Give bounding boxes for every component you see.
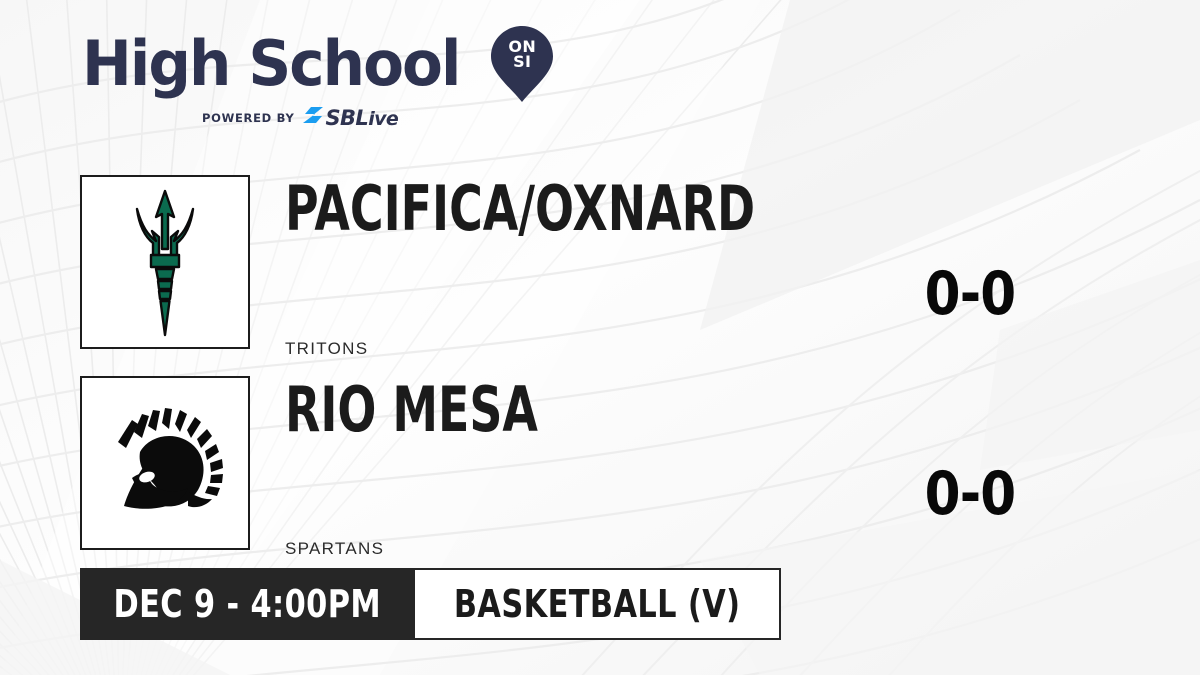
team-logo-box-pacifica-oxnard <box>80 175 250 349</box>
team-logo-box-rio-mesa <box>80 376 250 550</box>
spartan-helmet-icon <box>102 404 228 522</box>
onsi-pin-icon: ON SI <box>491 26 553 102</box>
trident-icon <box>126 187 204 337</box>
game-sport-cell: BASKETBALL (V) <box>415 568 781 640</box>
team-mascot-1: TRITONS <box>285 339 368 359</box>
sblive-upper: SBL <box>325 106 368 130</box>
pin-line-si: SI <box>491 54 553 69</box>
team-name-1: PACIFICA/OXNARD <box>285 178 755 240</box>
game-info-bar: DEC 9 - 4:00PM BASKETBALL (V) <box>80 568 781 640</box>
sblive-s-mark-icon <box>302 105 324 130</box>
powered-by-row: POWERED BY SBLive <box>202 105 553 130</box>
team-record-2: 0-0 <box>884 464 1056 524</box>
sblive-lower: ive <box>368 108 398 130</box>
sblive-wordmark: SBLive <box>325 106 398 130</box>
page-title: High School <box>82 33 460 95</box>
game-datetime-cell: DEC 9 - 4:00PM <box>80 568 415 640</box>
powered-by-label: POWERED BY <box>202 111 294 125</box>
game-sport: BASKETBALL (V) <box>454 585 741 623</box>
brand-header: High School ON SI POWERED BY SBLive <box>82 26 553 130</box>
team-mascot-2: SPARTANS <box>285 539 384 559</box>
game-datetime: DEC 9 - 4:00PM <box>114 585 382 623</box>
team-record-1: 0-0 <box>884 264 1056 324</box>
team-name-2: RIO MESA <box>285 379 538 441</box>
